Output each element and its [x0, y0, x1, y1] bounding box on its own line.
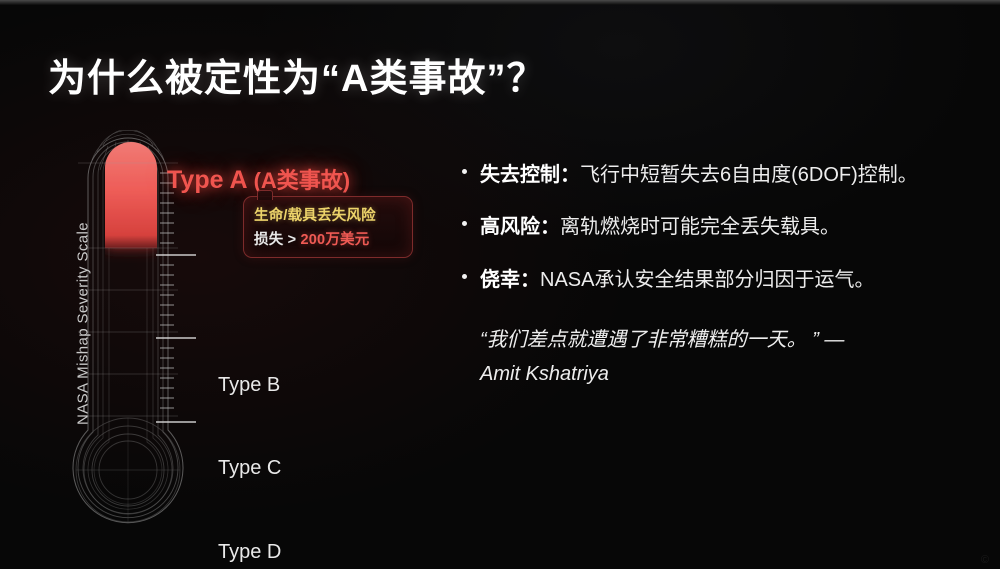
callout-loss-amount: 200万美元 — [301, 232, 370, 248]
thermometer-axis-label: NASA Mishap Severity Scale — [75, 199, 92, 449]
bullet-dot-icon — [462, 169, 467, 174]
quote-attribution: Amit Kshatriya — [480, 359, 970, 391]
bullet-dot-icon — [462, 274, 467, 279]
type-a-label-en: Type A — [167, 166, 247, 194]
bullet-lead: 高风险： — [480, 216, 560, 238]
callout-loss-prefix: 损失 > — [254, 232, 301, 248]
callout-loss-text: 损失 > 200万美元 — [254, 228, 402, 249]
slide-canvas: 为什么被定性为“A类事故”？ — [0, 0, 1000, 569]
top-edge-strip — [0, 0, 1000, 5]
bullet-item: 失去控制：飞行中短暂失去6自由度(6DOF)控制。 — [458, 160, 970, 190]
bullet-body: NASA承认安全结果部分归因于运气。 — [540, 269, 874, 291]
scale-label-type-b: Type B — [218, 374, 280, 397]
bullet-body: 飞行中短暂失去6自由度(6DOF)控制。 — [580, 164, 918, 186]
bullet-lead: 失去控制： — [480, 164, 580, 186]
bullet-item: 高风险：离轨燃烧时可能完全丢失载具。 — [458, 212, 970, 242]
pull-quote: “我们差点就遭遇了非常糟糕的一天。 ” — Amit Kshatriya — [458, 325, 970, 390]
watermark: © — [981, 554, 990, 566]
scale-label-type-d: Type D — [218, 541, 281, 564]
callout-pointer — [257, 190, 273, 200]
quote-text: “我们差点就遭遇了非常糟糕的一天。 ” — — [480, 329, 844, 351]
content-column: 失去控制：飞行中短暂失去6自由度(6DOF)控制。 高风险：离轨燃烧时可能完全丢… — [458, 160, 970, 390]
bullet-item: 侥幸：NASA承认安全结果部分归因于运气。 — [458, 265, 970, 295]
page-title: 为什么被定性为“A类事故”？ — [48, 47, 545, 102]
bullet-body: 离轨燃烧时可能完全丢失载具。 — [560, 216, 840, 238]
scale-label-type-c: Type C — [218, 457, 281, 480]
callout-risk-text: 生命/载具丢失风险 — [254, 204, 402, 225]
type-a-callout-box: 生命/载具丢失风险 损失 > 200万美元 — [243, 196, 413, 258]
bullet-dot-icon — [462, 221, 467, 226]
bullet-lead: 侥幸： — [480, 269, 540, 291]
